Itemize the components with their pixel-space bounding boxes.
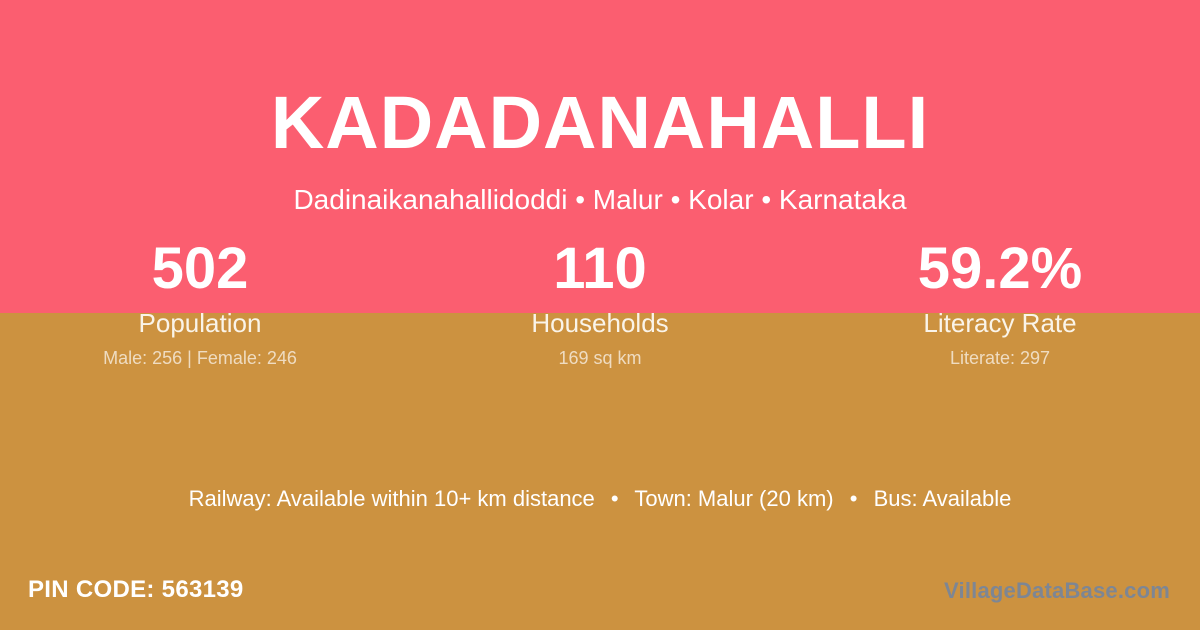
stat-detail: Literate: 297: [800, 347, 1200, 369]
page-title: KADADANAHALLI: [0, 0, 1200, 160]
stat-value: 110: [400, 238, 800, 300]
village-info-card: KADADANAHALLI Dadinaikanahallidoddi • Ma…: [0, 0, 1200, 630]
stat-value: 502: [0, 238, 400, 300]
site-brand: VillageDataBase.com: [944, 578, 1170, 604]
infrastructure-railway: Railway: Available within 10+ km distanc…: [189, 486, 595, 511]
stat-label: Households: [400, 308, 800, 338]
footer: PIN CODE: 563139 VillageDataBase.com: [0, 560, 1200, 630]
infrastructure-town: Town: Malur (20 km): [634, 486, 833, 511]
infrastructure-separator: •: [601, 486, 629, 511]
breadcrumb: Dadinaikanahallidoddi • Malur • Kolar • …: [0, 160, 1200, 216]
header: KADADANAHALLI Dadinaikanahallidoddi • Ma…: [0, 0, 1200, 216]
stat-label: Population: [0, 308, 400, 338]
stat-literacy-rate: 59.2% Literacy Rate Literate: 297: [800, 238, 1200, 369]
infrastructure-bus: Bus: Available: [874, 486, 1012, 511]
stat-population: 502 Population Male: 256 | Female: 246: [0, 238, 400, 369]
stat-detail: 169 sq km: [400, 347, 800, 369]
infrastructure-separator: •: [840, 486, 868, 511]
stat-label: Literacy Rate: [800, 308, 1200, 338]
stat-households: 110 Households 169 sq km: [400, 238, 800, 369]
stat-value: 59.2%: [800, 238, 1200, 300]
pin-code: PIN CODE: 563139: [28, 576, 244, 604]
stat-detail: Male: 256 | Female: 246: [0, 347, 400, 369]
infrastructure-row: Railway: Available within 10+ km distanc…: [0, 486, 1200, 512]
stats-row: 502 Population Male: 256 | Female: 246 1…: [0, 238, 1200, 369]
